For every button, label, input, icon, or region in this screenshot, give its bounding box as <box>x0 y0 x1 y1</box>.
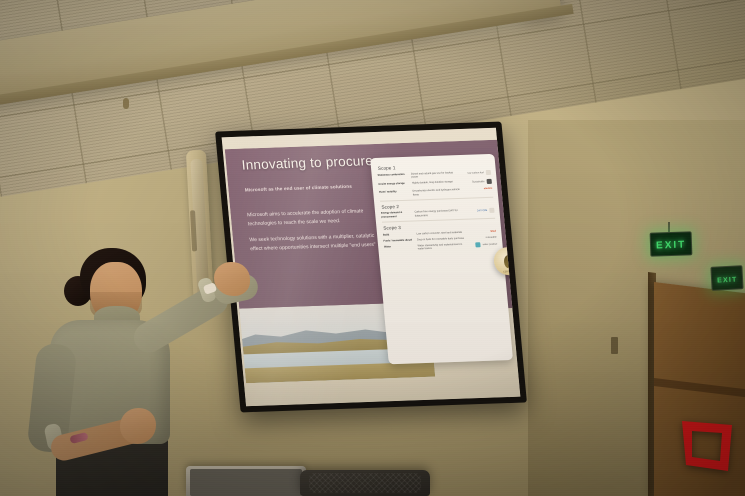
laptop-display <box>190 469 302 496</box>
scope-row-key: Fuels / renewable diesel <box>383 238 414 243</box>
scope-row-key: Onsite energy storage <box>378 182 409 187</box>
scope-row-value: Carbon free energy purchased 24/7 for da… <box>414 209 464 218</box>
ceiling-sensor <box>123 98 129 109</box>
screen-surface: Innovating to procure Microsoft as the e… <box>222 128 521 406</box>
scope-mark-swatch <box>489 208 494 213</box>
scope-mark-label: low carbon fuel <box>468 171 484 175</box>
scope-row-mark: renewable <box>469 235 496 239</box>
scope-row-key: Fleet / mobility <box>379 190 410 195</box>
slide-body-text: Microsoft aims to accelerate the adoptio… <box>247 207 381 260</box>
scope-row-mark: low carbon fuel <box>463 170 491 176</box>
room-photo-scene: EXIT EXIT Innovating to procure Microsof… <box>0 0 745 496</box>
scope-row-mark: electric <box>465 187 492 191</box>
slide-paragraph: We seek technology solutions with a mult… <box>249 232 380 254</box>
scope-row-value: Water stewardship and replenishment in w… <box>417 242 467 251</box>
scope-mark-swatch <box>475 242 480 247</box>
scope-row-key: Energy demand & procurement <box>381 211 412 219</box>
scope-row-value: Decarbonize electric and hydrogen vehicl… <box>412 188 462 197</box>
scope-mark-label: 24/7 CFE <box>477 209 487 212</box>
exit-sign-label: EXIT <box>717 276 738 284</box>
scope-row-mark: water positive <box>470 241 498 247</box>
wall-plate <box>611 337 618 354</box>
red-frame-logo-icon <box>676 415 738 477</box>
exit-sign-primary: EXIT <box>650 231 693 256</box>
exit-sign-mount <box>668 222 670 232</box>
scope-row-value: Highly durable, long duration storage <box>412 180 462 185</box>
chair-mesh <box>309 473 421 493</box>
scope-row: Water Water stewardship and replenishmen… <box>384 241 498 252</box>
scope-row-value: Low carbon concrete, steel and materials <box>416 230 466 235</box>
scope-row-value: Drop-in fuels for renewable fuels purcha… <box>417 236 467 241</box>
foreground-chair[interactable] <box>300 470 430 496</box>
scope-mark-swatch <box>486 179 491 184</box>
scope-row-key: Build <box>383 232 414 237</box>
right-hand-gesture <box>214 262 250 296</box>
seal-emblem <box>503 255 513 268</box>
laptop-screen[interactable] <box>186 466 306 496</box>
scope-mark-label: Sustainable <box>472 180 485 183</box>
scope-mark-label: electric <box>484 187 493 190</box>
slide-scope-card: Scope 1 Stationary combustion Diesel and… <box>370 154 513 364</box>
scope-mark-swatch <box>486 170 491 175</box>
scope-row-key: Stationary combustion <box>377 172 408 177</box>
scope-row-key: Water <box>384 244 415 249</box>
scope-row-mark: Sustainable <box>464 179 492 185</box>
slide-paragraph: Microsoft aims to accelerate the adoptio… <box>247 207 378 229</box>
exit-sign-label: EXIT <box>656 239 687 251</box>
exit-sign-secondary: EXIT <box>710 265 744 291</box>
scope-row-value: Diesel and natural gas use for backup po… <box>411 171 461 180</box>
scope-mark-label: water positive <box>483 242 498 245</box>
presentation-slide: Innovating to procure Microsoft as the e… <box>225 139 521 383</box>
presenter <box>28 248 242 496</box>
scope-mark-label: Steel <box>490 229 496 232</box>
door-rail <box>654 378 745 400</box>
scope-row-mark: Steel <box>469 229 496 233</box>
scope-row-mark: 24/7 CFE <box>467 208 495 214</box>
scope-mark-label: renewable <box>485 235 496 238</box>
projection-screen: Innovating to procure Microsoft as the e… <box>215 122 527 413</box>
